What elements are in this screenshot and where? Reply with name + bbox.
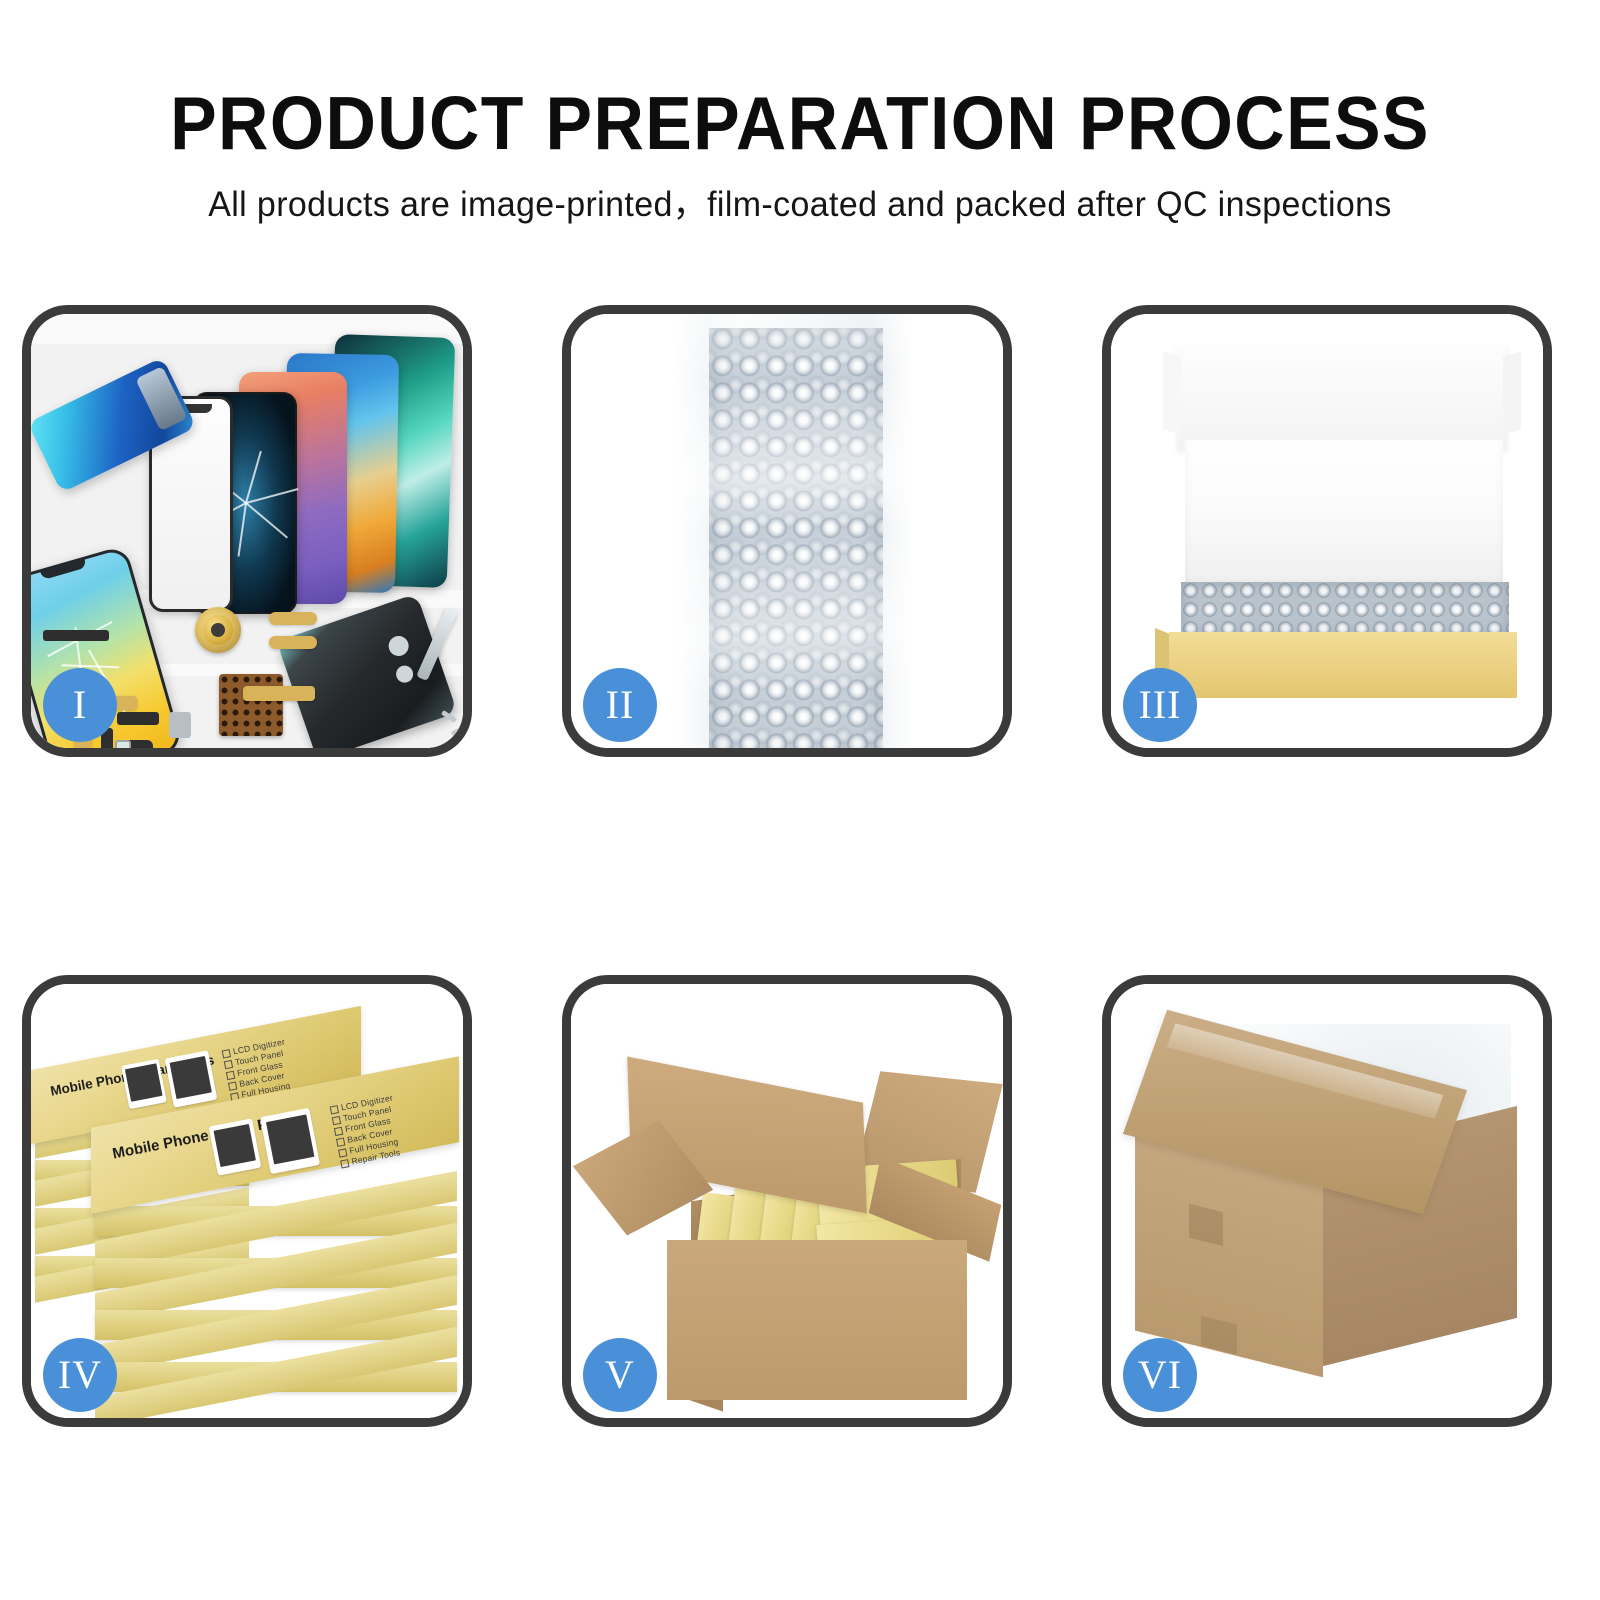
box-phone-image-2b [260,1108,320,1174]
page-title: PRODUCT PREPARATION PROCESS [56,86,1544,161]
step-panel-2[interactable]: II [562,305,1012,757]
foam-insert [1185,440,1503,588]
step-panel-5[interactable]: V [562,975,1012,1427]
ic-chip [219,674,283,736]
button-flex-cable [243,686,315,701]
mailer-lid [1177,346,1507,450]
step-panel-1[interactable]: I [22,305,472,757]
step-badge-4: IV [43,1338,117,1412]
flex-cable-b [269,636,317,649]
bubble-wrapped-product [1181,582,1509,636]
carton-front-face [667,1240,967,1400]
bubble-wrap-bag [675,314,913,748]
speaker-module [43,630,109,641]
stack-layer-fr-3 [95,1310,457,1340]
box-checklist-2: LCD Digitizer Touch Panel Front Glass Ba… [329,1093,404,1170]
stack-layer-fr-1 [95,1206,457,1236]
steps-grid: I II [22,305,1578,1427]
bubble-wrap-surface [709,328,883,748]
step-panel-4[interactable]: Mobile Phone Spare Parts LCD Digitizer T… [22,975,472,1427]
sim-tray [115,740,131,748]
step-panel-6[interactable]: VI [1102,975,1552,1427]
bag-edge-left [675,314,713,748]
retail-box-top-front: Mobile Phone Spare Parts LCD Digitizer T… [91,1092,459,1178]
steps-row-top: I II [22,305,1578,757]
screw-b [451,725,463,737]
step-panel-3[interactable]: III [1102,305,1552,757]
mailer-front-wall [1169,632,1517,698]
wireless-charging-coil [195,607,241,653]
vibration-motor [117,712,159,725]
header: PRODUCT PREPARATION PROCESS All products… [0,0,1600,222]
product-preparation-infographic: PRODUCT PREPARATION PROCESS All products… [0,0,1600,1600]
step-badge-1: I [43,668,117,742]
stack-layer-fr-2 [95,1258,457,1288]
page-subtitle: All products are image-printed，film-coat… [24,187,1576,222]
step-badge-3: III [1123,668,1197,742]
step-badge-5: V [583,1338,657,1412]
charging-port [169,712,191,738]
step-badge-6: VI [1123,1338,1197,1412]
stack-layer-fr-4 [95,1362,457,1392]
box-phone-image-2a [209,1118,262,1175]
steps-row-bottom: Mobile Phone Spare Parts LCD Digitizer T… [22,975,1578,1427]
step-badge-2: II [583,668,657,742]
flex-cable-a [269,612,317,625]
